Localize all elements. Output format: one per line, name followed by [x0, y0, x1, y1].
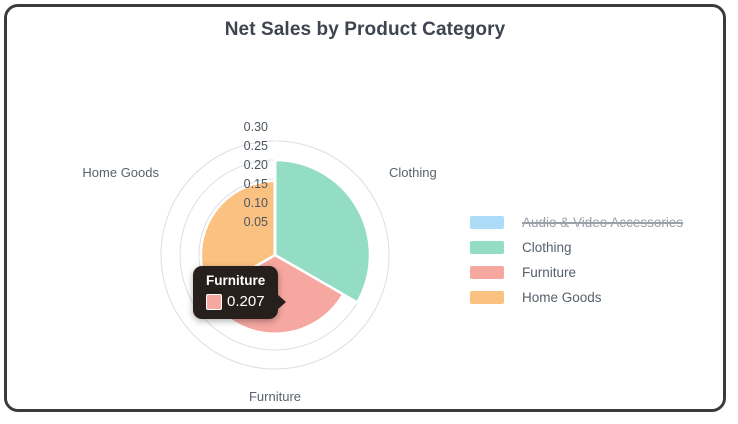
- axis-label-furniture: Furniture: [249, 389, 301, 404]
- radial-tick-label: 0.25: [244, 139, 268, 153]
- legend-item-audio-video-accessories[interactable]: Audio & Video Accessories: [470, 210, 710, 235]
- radial-tick-label: 0.30: [244, 120, 268, 134]
- tooltip-color-swatch: [206, 294, 222, 310]
- legend-item-clothing[interactable]: Clothing: [470, 235, 710, 260]
- legend-item-furniture[interactable]: Furniture: [470, 260, 710, 285]
- legend-item-home-goods[interactable]: Home Goods: [470, 285, 710, 310]
- axis-label-clothing: Clothing: [389, 165, 437, 180]
- legend-swatch: [470, 266, 504, 279]
- legend-item-label: Clothing: [522, 240, 572, 255]
- radial-tick-label: 0.10: [244, 196, 268, 210]
- radial-tick-label: 0.15: [244, 177, 268, 191]
- polar-area-chart[interactable]: 0.30 0.25 0.20 0.15 0.10 0.05 Clothing F…: [7, 7, 477, 411]
- legend-item-label: Home Goods: [522, 290, 602, 305]
- tooltip-value: 0.207: [227, 293, 265, 310]
- radial-tick-label: 0.05: [244, 215, 268, 229]
- tooltip-body: 0.207: [206, 293, 265, 310]
- chart-legend: Audio & Video Accessories Clothing Furni…: [470, 210, 710, 310]
- chart-card: Net Sales by Product Category: [7, 7, 723, 409]
- chart-tooltip: Furniture 0.207: [193, 266, 278, 319]
- legend-swatch: [470, 216, 504, 229]
- legend-swatch: [470, 291, 504, 304]
- window-frame: Net Sales by Product Category: [4, 4, 726, 412]
- legend-item-label: Furniture: [522, 265, 576, 280]
- axis-label-home-goods: Home Goods: [82, 165, 159, 180]
- legend-item-label: Audio & Video Accessories: [522, 215, 683, 230]
- legend-swatch: [470, 241, 504, 254]
- tooltip-title: Furniture: [206, 273, 265, 288]
- radial-tick-label: 0.20: [244, 158, 268, 172]
